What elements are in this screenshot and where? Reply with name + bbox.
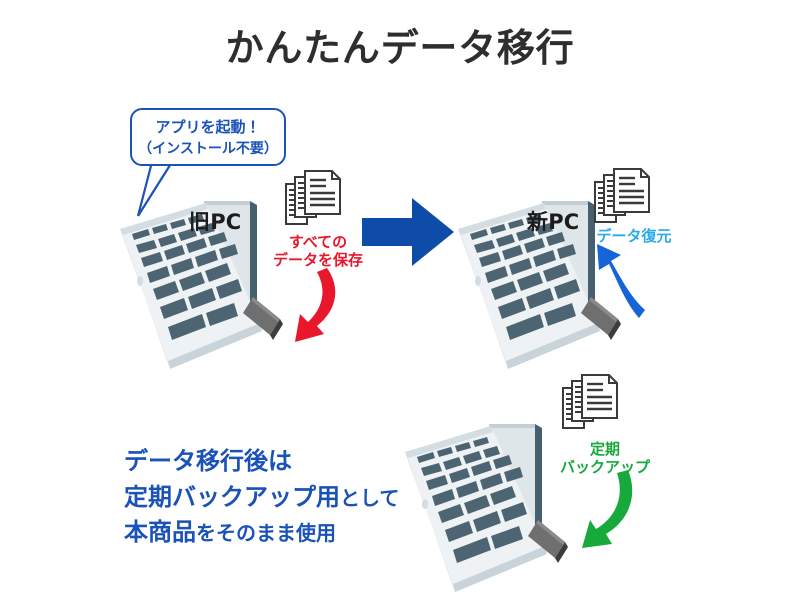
callout-line-1: アプリを起動！ — [132, 116, 284, 137]
document-stack-icon-new — [592, 166, 658, 230]
bottom-message-line-2-tail: として — [340, 486, 399, 510]
caption-backup-line-1: 定期 — [550, 441, 660, 459]
callout-line-2: （インストール不要） — [132, 138, 284, 158]
bottom-message-line-3-tail: をそのまま使用 — [196, 521, 336, 545]
illustration-canvas: かんたんデータ移行 アプリを起動！ （インストール不要） — [0, 0, 800, 600]
caption-regular-backup: 定期 バックアップ — [550, 441, 660, 476]
app-launch-callout: アプリを起動！ （インストール不要） — [130, 108, 286, 166]
curved-arrow-down-backup-icon — [576, 468, 648, 552]
bottom-message-line-3-main: 本商品 — [124, 518, 196, 546]
bottom-message-line-1: データ移行後は — [124, 444, 454, 480]
page-title: かんたんデータ移行 — [0, 26, 800, 72]
document-stack-icon-old — [283, 168, 349, 232]
pc-label-old: 旧PC — [189, 206, 241, 236]
pc-label-new: 新PC — [527, 206, 579, 236]
bottom-message-line-2: 定期バックアップ用として — [124, 480, 454, 516]
bottom-message-line-3: 本商品をそのまま使用 — [124, 515, 454, 551]
caption-save-line-1: すべての — [258, 234, 378, 252]
caption-restore-line-1: データ復元 — [584, 228, 684, 246]
caption-save-line-2: データを保存 — [258, 252, 378, 270]
speech-bubble-tail-icon — [126, 160, 186, 222]
caption-restore-data: データ復元 — [584, 228, 684, 246]
bottom-message: データ移行後は 定期バックアップ用として 本商品をそのまま使用 — [124, 444, 454, 551]
caption-save-all-data: すべての データを保存 — [258, 234, 378, 269]
curved-arrow-up-restore-icon — [583, 244, 647, 322]
curved-arrow-down-save-icon — [283, 264, 345, 344]
document-stack-icon-backup — [560, 372, 626, 436]
caption-backup-line-2: バックアップ — [550, 459, 660, 477]
bottom-message-line-2-main: 定期バックアップ用 — [124, 483, 340, 511]
